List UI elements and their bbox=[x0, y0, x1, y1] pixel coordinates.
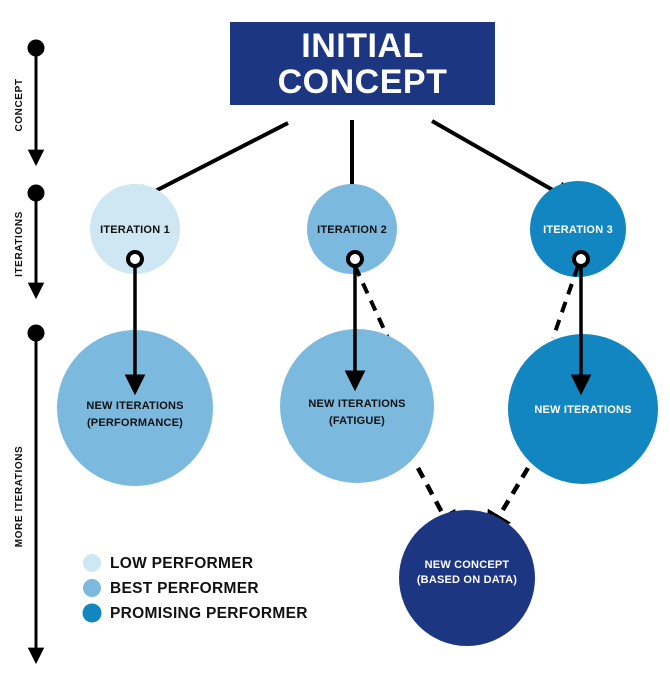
legend-label-low-performer: LOW PERFORMER bbox=[110, 555, 253, 572]
axis-more-iterations: MORE ITERATIONS bbox=[14, 325, 45, 661]
legend-swatch-icon bbox=[83, 554, 101, 572]
initial-concept-line2: CONCEPT bbox=[278, 63, 448, 101]
node-new-iterations-promising[interactable]: NEW ITERATIONS bbox=[508, 334, 658, 484]
iteration-2-dashed-branch bbox=[355, 266, 388, 338]
diagram-svg: CONCEPT ITERATIONS MORE ITERATIONS INITI… bbox=[0, 0, 670, 680]
iteration-2-label: ITERATION 2 bbox=[317, 224, 387, 236]
axis-label-concept: CONCEPT bbox=[14, 78, 25, 131]
iteration-1-label: ITERATION 1 bbox=[100, 224, 170, 236]
new-iterations-fatigue-line1: NEW ITERATIONS bbox=[308, 398, 405, 410]
legend-item-low-performer[interactable]: LOW PERFORMER bbox=[83, 554, 253, 572]
legend-swatch-icon bbox=[83, 604, 102, 623]
new-concept-line2: (BASED ON DATA) bbox=[417, 574, 517, 586]
connector-knob bbox=[128, 252, 142, 266]
iteration-3-label: ITERATION 3 bbox=[543, 224, 613, 236]
axis-label-iterations: ITERATIONS bbox=[14, 211, 25, 277]
outcome-nodes: NEW ITERATIONS (PERFORMANCE) NEW ITERATI… bbox=[57, 329, 658, 486]
legend-label-promising-performer: PROMISING PERFORMER bbox=[110, 605, 308, 622]
node-new-iterations-fatigue[interactable]: NEW ITERATIONS (FATIGUE) bbox=[280, 329, 434, 483]
initial-concept-line1: INITIAL bbox=[301, 27, 423, 65]
new-iterations-performance-line2: (PERFORMANCE) bbox=[87, 417, 183, 429]
new-iterations-performance-line1: NEW ITERATIONS bbox=[86, 400, 183, 412]
timeline-axes: CONCEPT ITERATIONS MORE ITERATIONS bbox=[14, 40, 45, 661]
axis-label-more-iterations: MORE ITERATIONS bbox=[14, 446, 25, 548]
initial-concept-box[interactable]: INITIAL CONCEPT bbox=[230, 22, 495, 105]
connector-knob bbox=[348, 252, 362, 266]
legend-label-best-performer: BEST PERFORMER bbox=[110, 580, 259, 597]
axis-iterations: ITERATIONS bbox=[14, 185, 45, 296]
legend-swatch-icon bbox=[83, 579, 101, 597]
axis-concept: CONCEPT bbox=[14, 40, 45, 163]
node-new-concept[interactable]: NEW CONCEPT (BASED ON DATA) bbox=[399, 510, 535, 646]
new-iterations-fatigue-line2: (FATIGUE) bbox=[329, 415, 385, 427]
new-concept-line1: NEW CONCEPT bbox=[425, 559, 510, 571]
diagram-canvas: CONCEPT ITERATIONS MORE ITERATIONS INITI… bbox=[0, 0, 670, 680]
dashed-branch-connectors-upper bbox=[355, 266, 578, 338]
connector-knob bbox=[574, 252, 588, 266]
concept-to-iteration-3-arrow bbox=[432, 121, 572, 201]
legend: LOW PERFORMER BEST PERFORMER PROMISING P… bbox=[83, 554, 308, 623]
new-iterations-promising-line1: NEW ITERATIONS bbox=[534, 404, 631, 416]
legend-item-best-performer[interactable]: BEST PERFORMER bbox=[83, 579, 259, 597]
legend-item-promising-performer[interactable]: PROMISING PERFORMER bbox=[83, 604, 308, 623]
